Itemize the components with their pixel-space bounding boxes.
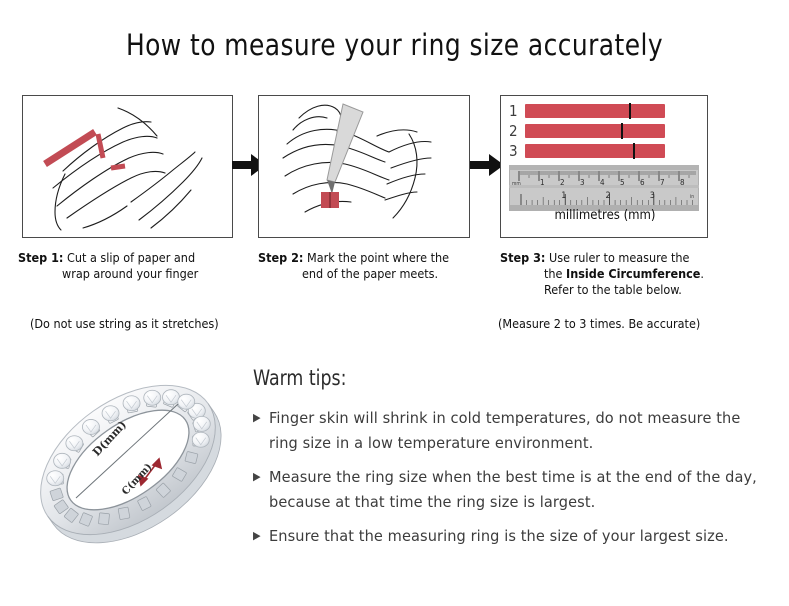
infographic-page: How to measure your ring size accurately xyxy=(0,0,789,606)
strip-number: 1 xyxy=(509,103,525,119)
strip-bar xyxy=(525,124,665,138)
tip-text: Measure the ring size when the best time… xyxy=(269,465,758,515)
strip-bar xyxy=(525,144,665,158)
svg-text:in: in xyxy=(690,194,694,200)
step-1-label: Step 1: xyxy=(18,250,63,265)
svg-text:mm: mm xyxy=(512,181,521,187)
svg-text:8: 8 xyxy=(680,178,685,187)
strip-mark xyxy=(629,103,631,119)
strip-row: 1 xyxy=(509,103,705,119)
step-2-caption: Step 2: Mark the point where the end of … xyxy=(258,250,498,282)
strip-number: 2 xyxy=(509,123,525,139)
step-1-caption: Step 1: Cut a slip of paper and wrap aro… xyxy=(18,250,258,282)
step-1-illustration-box xyxy=(22,95,233,238)
eternity-ring-drawing xyxy=(18,352,246,574)
step-2-line2: end of the paper meets. xyxy=(258,266,498,282)
strip-mark xyxy=(621,123,623,139)
tip-text: Ensure that the measuring ring is the si… xyxy=(269,524,729,549)
tip-item: ▶ Measure the ring size when the best ti… xyxy=(253,465,773,515)
ruler-unit-caption: millimetres (mm) xyxy=(501,208,708,223)
step-3-line2-prefix: the xyxy=(544,266,566,281)
ring-diagram xyxy=(18,352,246,574)
svg-text:3: 3 xyxy=(580,178,585,187)
warm-tips-heading: Warm tips: xyxy=(253,366,731,390)
step-3-line3: Refer to the table below. xyxy=(500,282,780,298)
triangle-bullet-icon: ▶ xyxy=(253,465,269,488)
step-3-label: Step 3: xyxy=(500,250,545,265)
measured-strips-group: 1 2 3 xyxy=(509,103,705,165)
warm-tips-section: Warm tips: ▶ Finger skin will shrink in … xyxy=(253,366,773,558)
strip-row: 2 xyxy=(509,123,705,139)
svg-text:6: 6 xyxy=(640,178,645,187)
step-2-illustration-box xyxy=(258,95,470,238)
page-title: How to measure your ring size accurately xyxy=(55,28,734,62)
inside-circumference-emphasis: Inside Circumference xyxy=(566,266,700,281)
svg-text:2: 2 xyxy=(606,191,611,201)
svg-text:7: 7 xyxy=(660,178,665,187)
strip-row: 3 xyxy=(509,143,705,159)
step-3-note: (Measure 2 to 3 times. Be accurate) xyxy=(498,316,700,331)
svg-text:3: 3 xyxy=(650,191,655,201)
strip-bar xyxy=(525,104,665,118)
step-3-line2: the Inside Circumference. xyxy=(500,266,780,282)
step-3-caption: Step 3: Use ruler to measure the the Ins… xyxy=(500,250,780,298)
svg-text:1: 1 xyxy=(561,191,566,201)
svg-text:1: 1 xyxy=(540,178,545,187)
step-3-illustration-box: 1 2 3 1 xyxy=(500,95,708,238)
step-2-line1: Mark the point where the xyxy=(307,250,449,265)
hand-with-paper-strip-drawing xyxy=(23,96,232,237)
svg-text:2: 2 xyxy=(560,178,565,187)
triangle-bullet-icon: ▶ xyxy=(253,524,269,547)
tip-text: Finger skin will shrink in cold temperat… xyxy=(269,406,758,456)
svg-text:5: 5 xyxy=(620,178,625,187)
strip-mark xyxy=(633,143,635,159)
step-1-line2: wrap around your finger xyxy=(18,266,258,282)
step-3-line1: Use ruler to measure the xyxy=(549,250,689,265)
step-1-note: (Do not use string as it stretches) xyxy=(30,316,219,331)
svg-text:4: 4 xyxy=(600,178,605,187)
arrow-step2-to-step3 xyxy=(470,152,504,178)
hand-marking-paper-drawing xyxy=(259,96,469,237)
step-2-label: Step 2: xyxy=(258,250,303,265)
step-3-line2-tail: . xyxy=(700,266,704,281)
triangle-bullet-icon: ▶ xyxy=(253,406,269,429)
steps-row: 1 2 3 1 xyxy=(0,95,789,238)
step-1-line1: Cut a slip of paper and xyxy=(67,250,195,265)
pen-shape xyxy=(327,104,363,194)
tip-item: ▶ Ensure that the measuring ring is the … xyxy=(253,524,773,549)
strip-number: 3 xyxy=(509,143,525,159)
tip-item: ▶ Finger skin will shrink in cold temper… xyxy=(253,406,773,456)
